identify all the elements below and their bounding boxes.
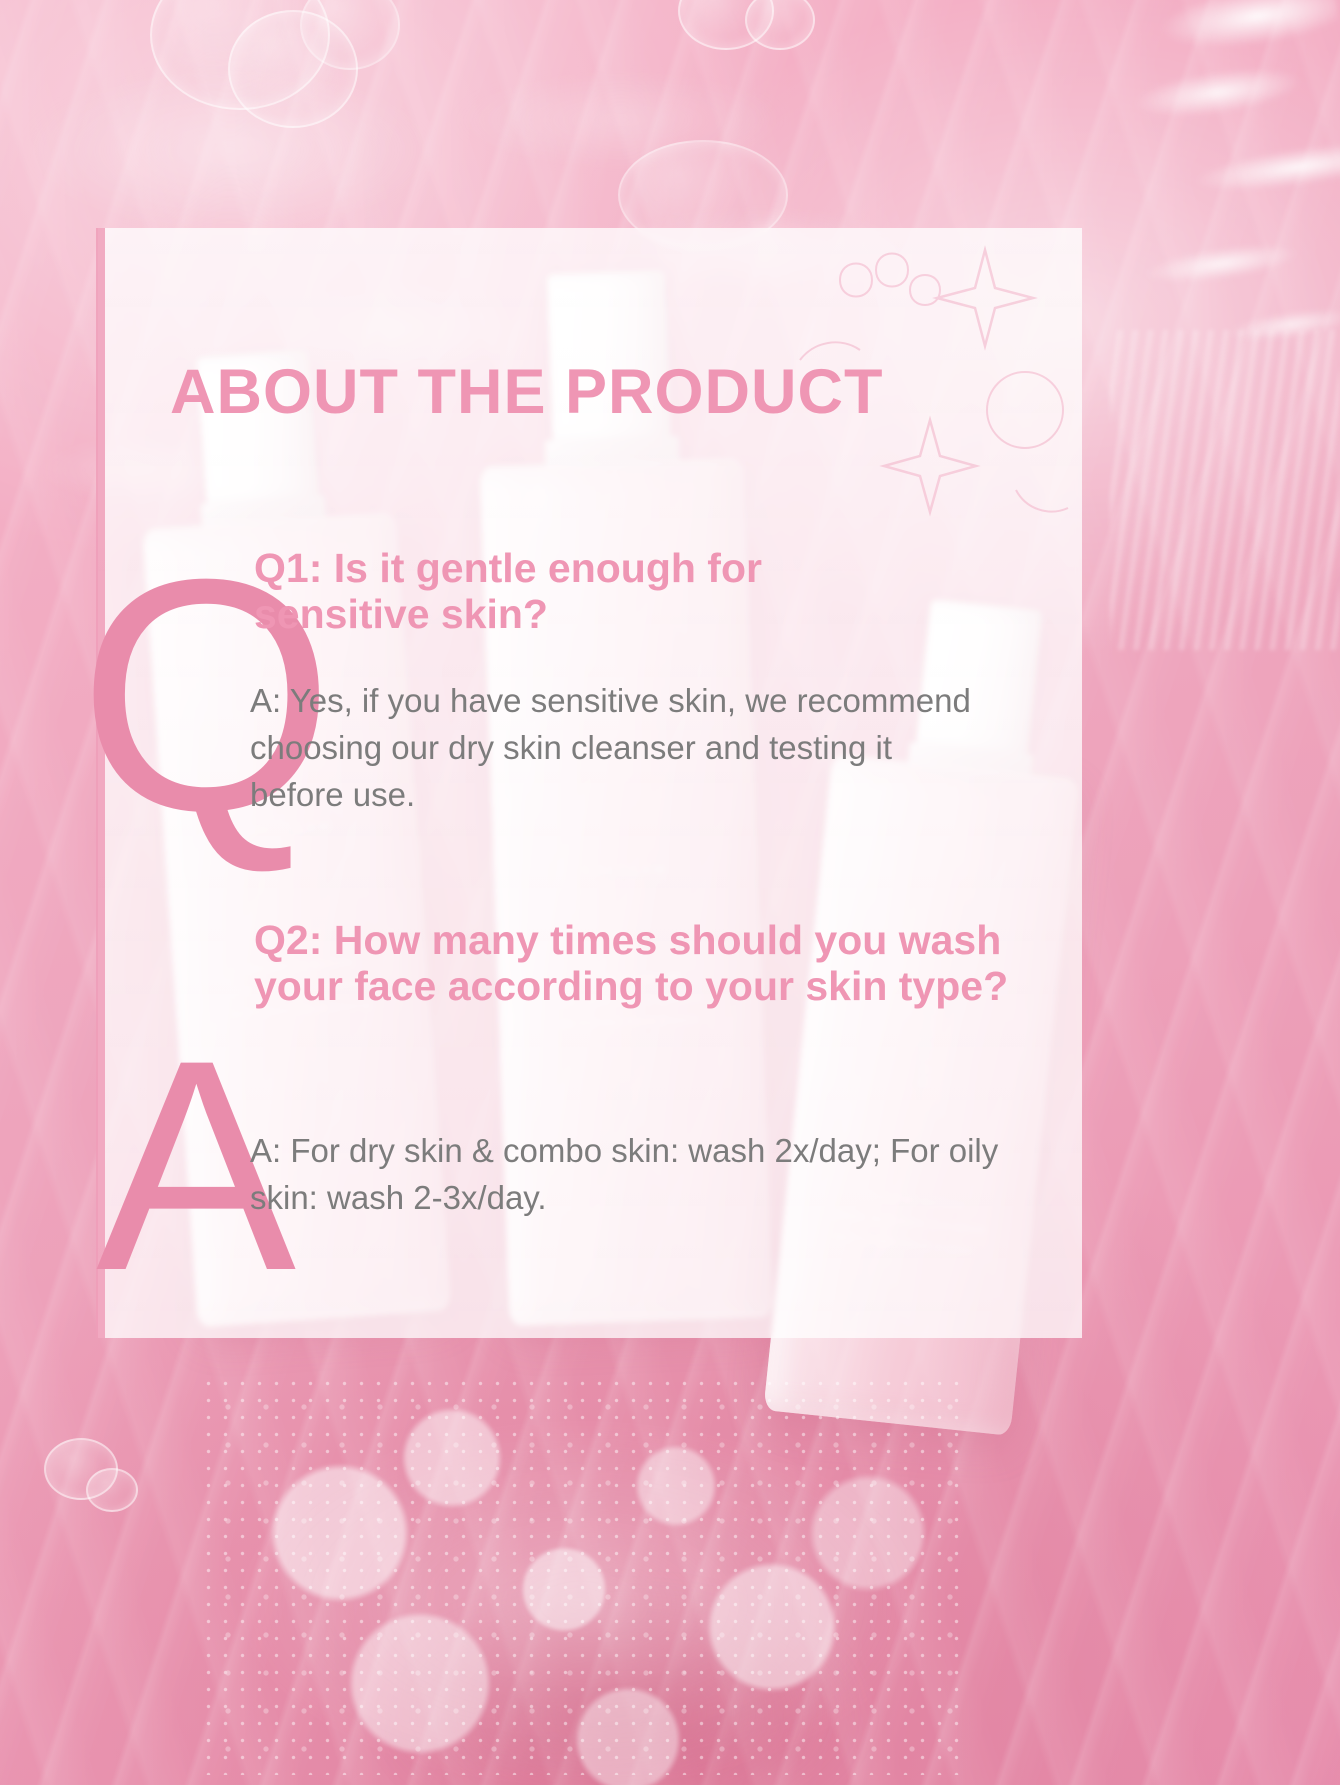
page-title: ABOUT THE PRODUCT bbox=[170, 356, 883, 428]
product-faq-graphic: SHEGLAM RADIANT BY NATURE DRY SKIN FACE … bbox=[0, 0, 1340, 1785]
faq-content: ABOUT THE PRODUCT Q1: Is it gentle enoug… bbox=[98, 228, 1082, 1338]
foam-bubble-specks bbox=[200, 1375, 960, 1775]
faq-question-2: Q2: How many times should you wash your … bbox=[254, 918, 1054, 1010]
faq-answer-1: A: Yes, if you have sensitive skin, we r… bbox=[250, 678, 990, 819]
faq-answer-2: A: For dry skin & combo skin: wash 2x/da… bbox=[250, 1128, 1040, 1222]
faq-question-1: Q1: Is it gentle enough for sensitive sk… bbox=[254, 546, 874, 638]
